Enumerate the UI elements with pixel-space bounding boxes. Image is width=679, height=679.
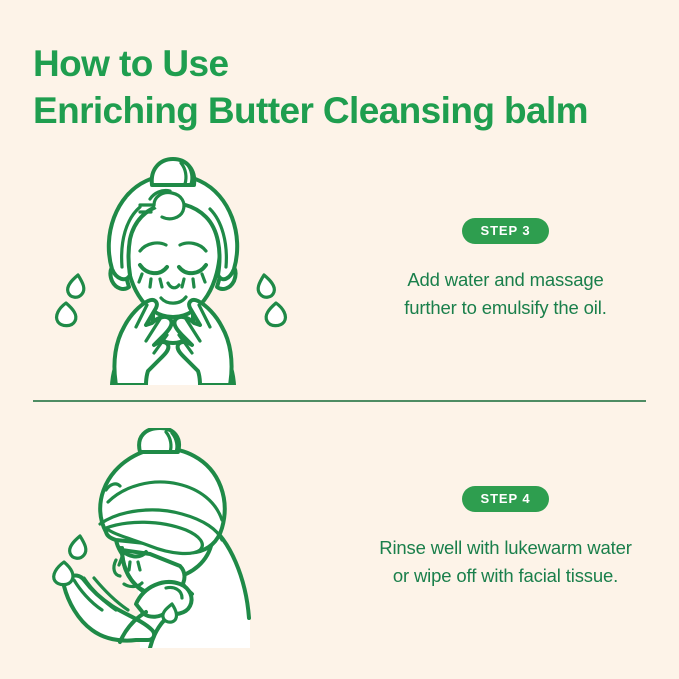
step-4-badge: STEP 4 <box>462 486 550 512</box>
water-droplet-icon <box>258 275 274 297</box>
how-to-use-infographic: How to Use Enriching Butter Cleansing ba… <box>0 0 679 679</box>
illustration-step-4 <box>0 418 340 658</box>
illustration-step-3 <box>0 152 340 388</box>
page-title-line-1: How to Use <box>33 40 663 87</box>
woman-rinsing-face-icon <box>50 428 290 648</box>
section-divider <box>33 400 646 402</box>
step-4-text: STEP 4 Rinse well with lukewarm water or… <box>340 418 679 658</box>
water-droplet-icon <box>68 275 84 297</box>
step-4-description-line-1: Rinse well with lukewarm water <box>379 534 632 562</box>
water-droplet-icon <box>54 562 73 585</box>
water-droplet-icon <box>57 303 76 326</box>
step-3-description-line-1: Add water and massage <box>407 266 603 294</box>
step-3-badge: STEP 3 <box>462 218 550 244</box>
page-title-line-2: Enriching Butter Cleansing balm <box>33 87 663 134</box>
step-row-3: STEP 3 Add water and massage further to … <box>0 152 679 388</box>
water-droplet-icon <box>70 536 86 558</box>
water-droplet-icon <box>266 303 285 326</box>
step-3-text: STEP 3 Add water and massage further to … <box>340 152 679 388</box>
page-title: How to Use Enriching Butter Cleansing ba… <box>33 40 663 134</box>
step-3-description-line-2: further to emulsify the oil. <box>404 294 606 322</box>
step-4-description-line-2: or wipe off with facial tissue. <box>393 562 618 590</box>
woman-massaging-face-icon <box>50 155 290 385</box>
step-row-4: STEP 4 Rinse well with lukewarm water or… <box>0 418 679 658</box>
